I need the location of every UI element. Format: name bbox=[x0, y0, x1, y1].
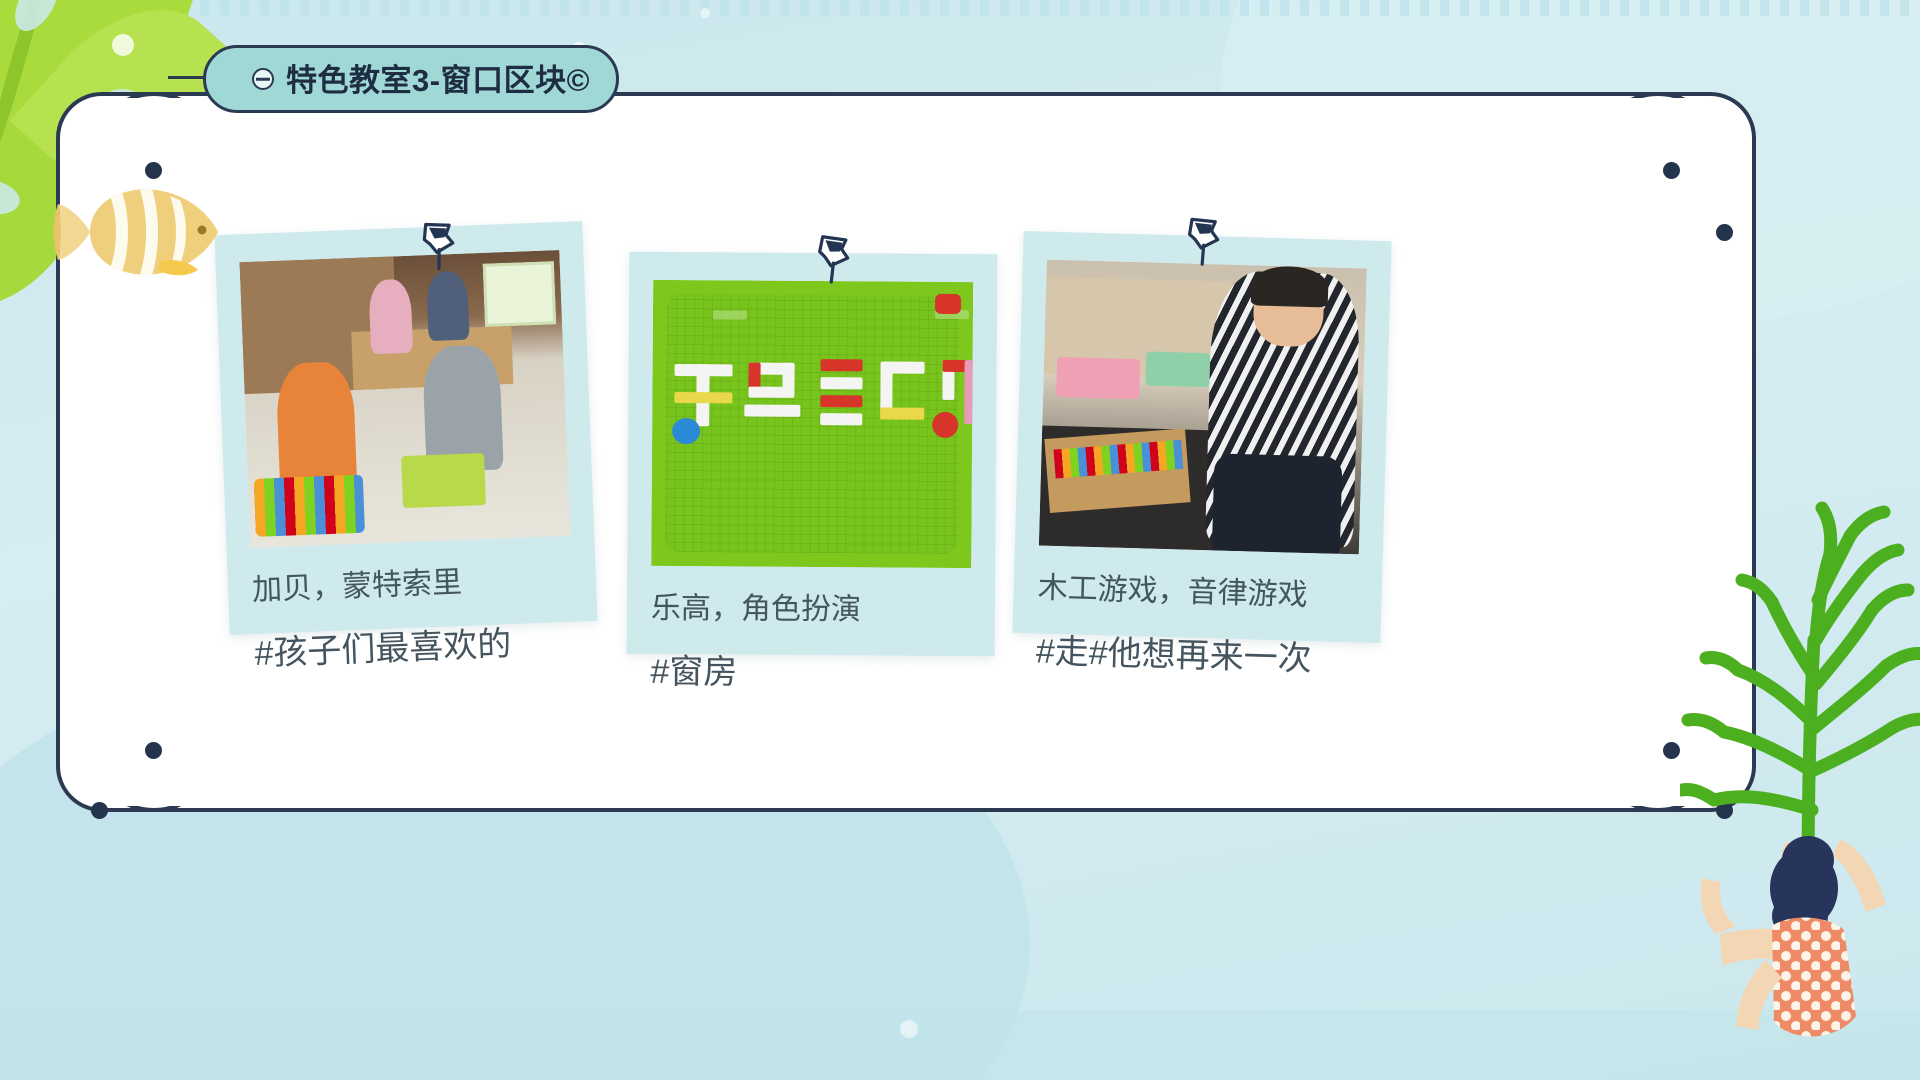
card-caption-line2: #窗房 bbox=[650, 652, 970, 693]
card-caption-line1: 乐高，角色扮演 bbox=[651, 592, 971, 629]
seaweed-icon bbox=[1680, 470, 1920, 890]
card-photo bbox=[1039, 260, 1367, 555]
card-caption-line1: 木工游戏，音律游戏 bbox=[1037, 571, 1358, 614]
photo-image-lego-board bbox=[651, 280, 973, 568]
card-photo bbox=[651, 280, 973, 568]
photo-image-classroom-blocks bbox=[240, 250, 571, 548]
photo-card-list: 加贝，蒙特索里 #孩子们最喜欢的 bbox=[0, 0, 1920, 1080]
card-caption-line2: #走#他想再来一次 bbox=[1035, 632, 1356, 680]
photo-card[interactable]: 乐高，角色扮演 #窗房 bbox=[627, 252, 998, 657]
fish-icon bbox=[52, 178, 222, 286]
photo-image-woodwork-play bbox=[1039, 260, 1367, 555]
card-caption-line1: 加贝，蒙特索里 bbox=[251, 562, 572, 609]
photo-card[interactable]: 加贝，蒙特索里 #孩子们最喜欢的 bbox=[214, 221, 597, 635]
swimmer-figure bbox=[1680, 830, 1910, 1080]
photo-card[interactable]: 木工游戏，音律游戏 #走#他想再来一次 bbox=[1012, 231, 1391, 643]
card-photo bbox=[240, 250, 571, 548]
card-caption-line2: #孩子们最喜欢的 bbox=[254, 622, 575, 673]
